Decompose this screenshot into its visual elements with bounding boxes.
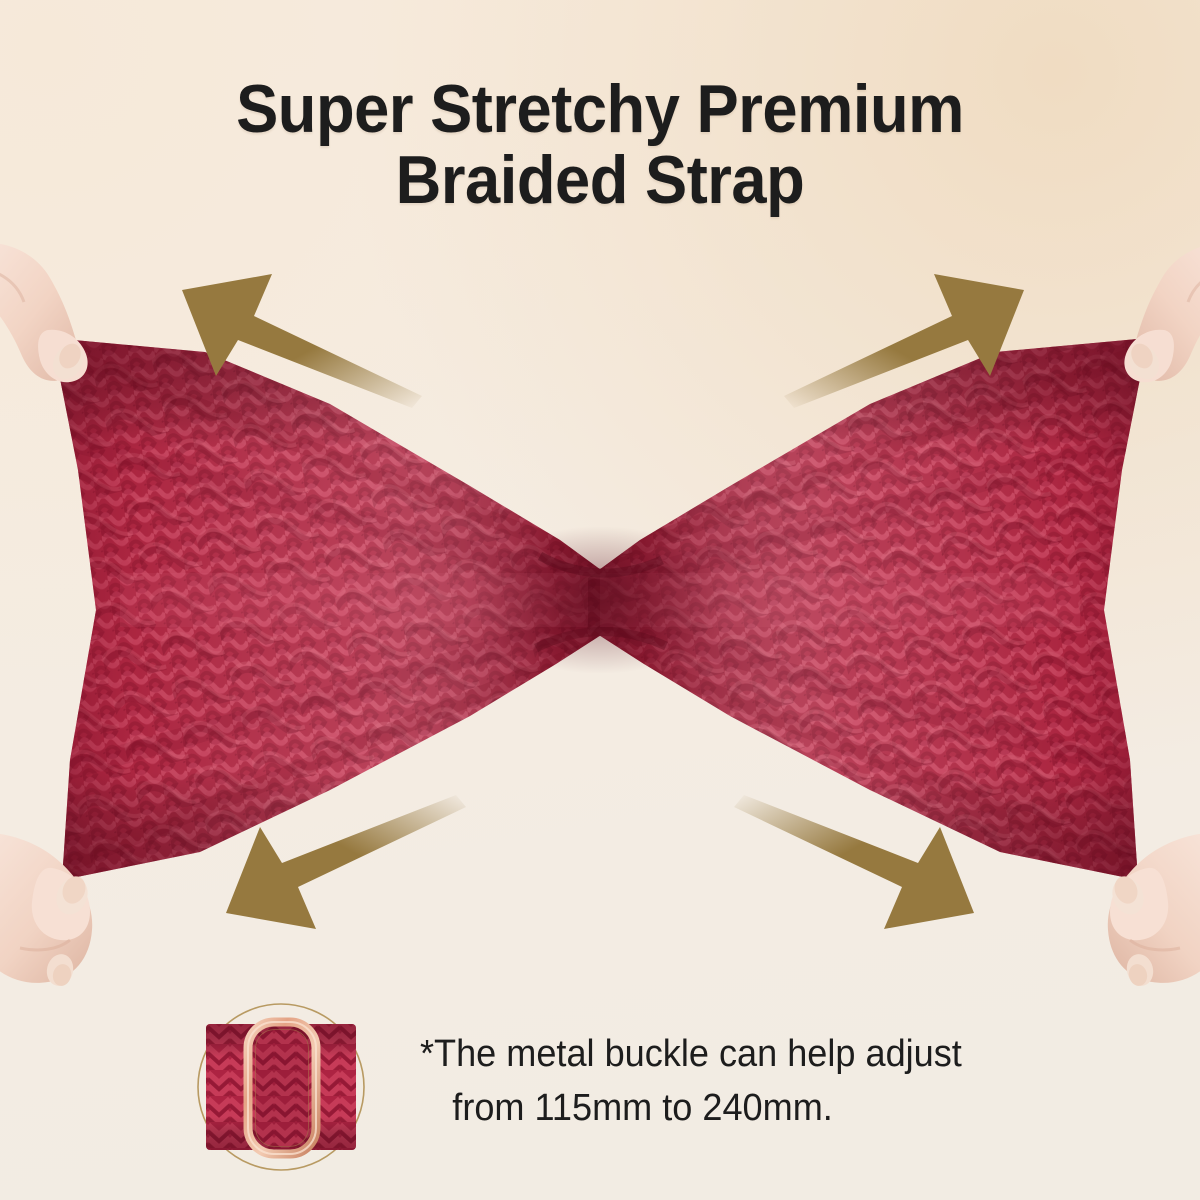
caption-line-1: *The metal buckle can help adjust — [420, 1033, 962, 1075]
buckle-closeup — [186, 992, 376, 1182]
arrow-down-right — [730, 795, 980, 935]
headline-line-1: Super Stretchy Premium — [236, 71, 964, 147]
hand-top-left — [0, 244, 120, 434]
arrow-down-left — [220, 795, 470, 935]
strap-center-pinch — [470, 526, 730, 674]
headline-line-2: Braided Strap — [42, 145, 1158, 216]
product-marketing-image: Super Stretchy Premium Braided Strap — [0, 0, 1200, 1200]
buckle-caption: *The metal buckle can help adjust from 1… — [420, 1028, 1028, 1136]
hand-bottom-left — [0, 820, 156, 1020]
arrow-up-right — [780, 268, 1030, 408]
hand-bottom-right — [1044, 820, 1200, 1020]
hand-top-right — [1092, 244, 1200, 434]
arrow-up-left — [176, 268, 426, 408]
metal-buckle — [248, 1022, 316, 1154]
caption-line-2: from 115mm to 240mm. — [420, 1082, 1028, 1136]
page-title: Super Stretchy Premium Braided Strap — [42, 74, 1158, 215]
